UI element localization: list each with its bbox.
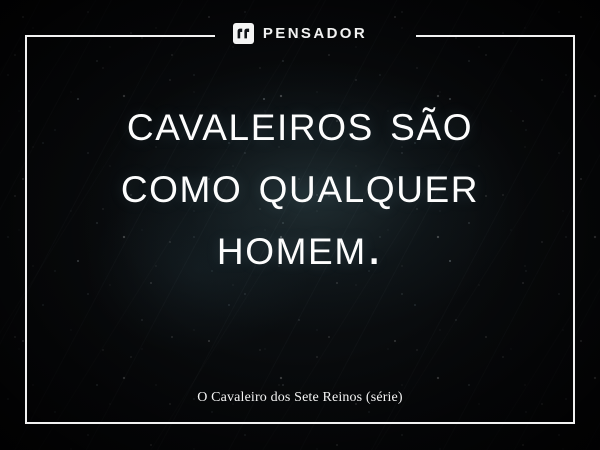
quote-attribution: O Cavaleiro dos Sete Reinos (série) [25,390,575,406]
quote-line: Cavaleiros são [25,92,575,154]
brand-logo[interactable]: PENSADOR [0,23,600,44]
brand-wordmark: PENSADOR [263,26,367,41]
frame-border-bottom [25,422,575,424]
quote-mark-icon [233,23,254,44]
quote-line: como qualquer [25,154,575,216]
quote-line: homem. [25,216,575,278]
quote-card: PENSADOR Cavaleiros são como qualquer ho… [0,0,600,450]
quote-text: Cavaleiros são como qualquer homem. [25,92,575,278]
